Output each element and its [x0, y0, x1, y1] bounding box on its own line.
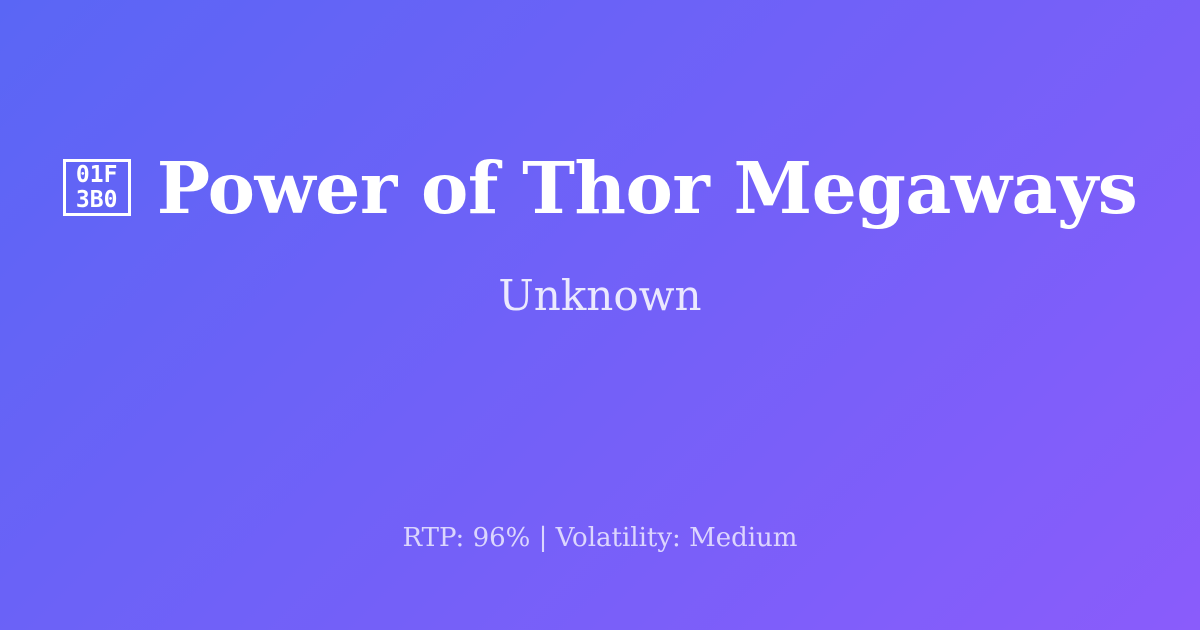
page-subtitle: Unknown [498, 273, 701, 319]
game-meta-line: RTP: 96% | Volatility: Medium [0, 523, 1200, 554]
page-title: Power of Thor Megaways [157, 151, 1138, 226]
slot-machine-icon-codepoint-bottom: 3B0 [76, 188, 118, 213]
footer: RTP: 96% | Volatility: Medium [0, 523, 1200, 554]
slot-machine-icon-codepoint-top: 01F [76, 163, 118, 188]
hero-section: 01F 3B0 Power of Thor Megaways Unknown [0, 0, 1200, 470]
og-card: 01F 3B0 Power of Thor Megaways Unknown R… [0, 0, 1200, 630]
title-row: 01F 3B0 Power of Thor Megaways [30, 151, 1170, 226]
slot-machine-icon: 01F 3B0 [63, 159, 131, 216]
